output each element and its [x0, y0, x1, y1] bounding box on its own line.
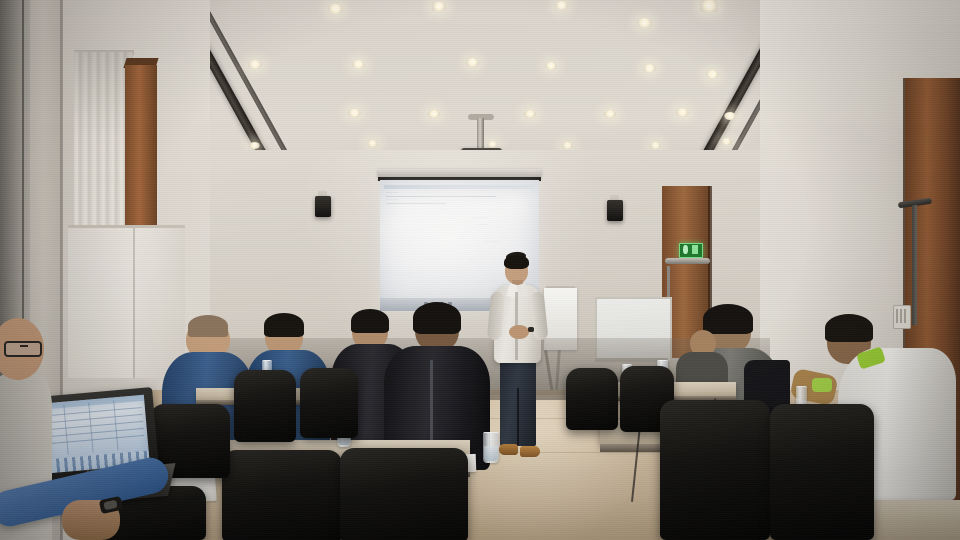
- downlight-icon-10: [248, 60, 262, 69]
- downlight-icon-28: [367, 140, 378, 147]
- downlight-icon-22: [604, 110, 616, 118]
- spreadsheet-row-5: [50, 435, 145, 444]
- exit-push-bar[interactable]: [665, 258, 710, 264]
- downlight-icon-20: [428, 110, 440, 118]
- presenter-hair: [504, 255, 529, 269]
- downlight-icon-13: [545, 62, 557, 70]
- spreadsheet-col-1: [63, 405, 68, 455]
- downlight-icon-29: [487, 141, 498, 148]
- downlight-icon-23: [676, 108, 689, 117]
- downlight-icon-7: [700, 0, 718, 12]
- wall-speaker-right-icon: [607, 200, 623, 221]
- half-wall-seam: [133, 228, 135, 378]
- attendee-right-far-hair: [825, 314, 873, 342]
- glass-4-water: [484, 446, 498, 461]
- downlight-icon-31: [650, 142, 661, 149]
- attendee-center-bag-strap: [430, 360, 433, 444]
- presenter-wristwatch: [528, 327, 534, 332]
- exit-sign-door-icon: [692, 245, 698, 254]
- attendee-second-left-hair: [264, 313, 304, 337]
- downlight-icon-3: [328, 4, 343, 14]
- wall-outlet-slots: [896, 309, 906, 323]
- presenter-shoe-left: [499, 444, 518, 455]
- chair-foreground-1[interactable]: [222, 450, 342, 540]
- attendee-center-left-hair: [351, 309, 389, 333]
- chair-back-row2-2[interactable]: [300, 368, 358, 438]
- presenter-hands: [509, 325, 529, 339]
- chair-foreground-4[interactable]: [770, 404, 874, 540]
- eyeglasses-bridge: [20, 345, 28, 347]
- presenter-shoe-right: [520, 446, 540, 457]
- downlight-icon-15: [706, 70, 719, 79]
- attendee-right-near-hair: [703, 304, 753, 334]
- wood-column-left: [125, 65, 157, 235]
- door-push-bar[interactable]: [912, 205, 917, 325]
- downlight-icon-32: [721, 138, 732, 145]
- downlight-icon-14: [643, 64, 656, 73]
- attendee-front-left-hair: [188, 315, 228, 337]
- projector-drop-rod: [477, 118, 484, 152]
- attendee-center-hair: [413, 302, 461, 334]
- photo-scene: ------- ---- -- --- --- ------ ------ --…: [0, 0, 960, 540]
- downlight-icon-12: [466, 58, 479, 67]
- spreadsheet-col-3: [113, 400, 118, 450]
- downlight-icon-11: [352, 60, 365, 69]
- eyeglasses-icon: [4, 341, 42, 357]
- half-wall: [68, 228, 185, 378]
- downlight-icon-21: [524, 110, 536, 118]
- spreadsheet-col-2: [88, 403, 93, 453]
- downlight-icon-4: [432, 2, 446, 11]
- downlight-icon-5: [555, 1, 568, 10]
- chair-foreground-2[interactable]: [340, 448, 468, 540]
- downlight-icon-19: [348, 109, 361, 117]
- downlight-icon-24: [724, 112, 736, 120]
- attendee-right-far-cuff: [812, 378, 832, 392]
- wall-speaker-left-icon: [315, 196, 331, 217]
- chair-back-row2-1[interactable]: [234, 370, 296, 442]
- downlight-icon-30: [562, 142, 573, 149]
- chair-back-row2-3[interactable]: [566, 368, 618, 430]
- presenter-leg-split: [517, 388, 519, 446]
- downlight-icon-6: [637, 18, 652, 28]
- chair-foreground-3[interactable]: [660, 400, 770, 540]
- exit-sign-runner-icon: [683, 245, 688, 254]
- downlight-icon-27: [249, 142, 260, 149]
